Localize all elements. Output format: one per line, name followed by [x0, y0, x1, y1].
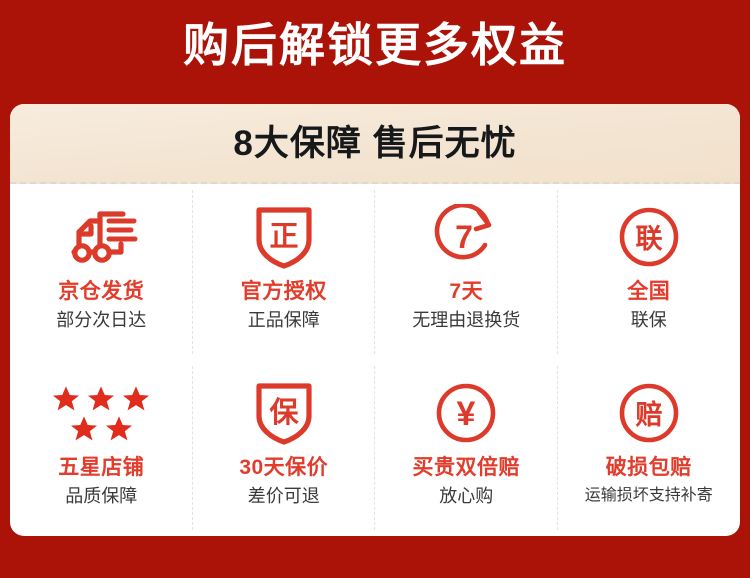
five-star-shop-icon [51, 376, 151, 450]
yuan-double-refund-icon: ¥ [433, 376, 499, 450]
shield-price-protection-icon: 保 [251, 376, 317, 450]
benefit-label: 全国 [627, 278, 670, 306]
benefit-cell-delivery[interactable]: 京仓发货 部分次日达 [10, 184, 193, 360]
benefit-label: 五星店铺 [58, 454, 144, 482]
nationwide-warranty-icon: 联 [616, 200, 682, 274]
delivery-truck-icon [63, 200, 139, 274]
benefit-sublabel: 差价可退 [248, 484, 320, 508]
star-icon [86, 384, 116, 413]
benefit-sublabel: 放心购 [439, 484, 493, 508]
card-header-title: 8大保障 售后无忧 [233, 124, 516, 164]
price-protection-glyph: 保 [268, 396, 299, 429]
shield-glyph: 正 [269, 221, 298, 253]
benefit-cell-return[interactable]: 7 7天 无理由退换货 [375, 184, 558, 360]
benefit-label: 破损包赔 [606, 454, 692, 482]
benefit-label: 30天保价 [239, 454, 328, 482]
benefit-cell-five-star[interactable]: 五星店铺 品质保障 [10, 360, 193, 536]
damage-compensation-icon: 赔 [616, 376, 682, 450]
shield-authentic-icon: 正 [251, 200, 317, 274]
card-header: 8大保障 售后无忧 [10, 104, 740, 184]
star-icon [51, 384, 81, 413]
benefit-sublabel: 联保 [631, 308, 667, 332]
benefit-cell-damage[interactable]: 赔 破损包赔 运输损坏支持补寄 [558, 360, 741, 536]
star-icon [69, 414, 99, 443]
guarantee-card: 8大保障 售后无忧 [10, 104, 740, 536]
benefit-sublabel: 部分次日达 [56, 308, 146, 332]
return-glyph: 7 [455, 219, 473, 255]
benefit-cell-authorization[interactable]: 正 官方授权 正品保障 [193, 184, 376, 360]
benefit-sublabel: 品质保障 [65, 484, 137, 508]
benefit-cell-price-protection[interactable]: 保 30天保价 差价可退 [193, 360, 376, 536]
stars-row-top [51, 384, 151, 413]
benefit-cell-warranty[interactable]: 联 全国 联保 [558, 184, 741, 360]
star-icon [104, 414, 134, 443]
benefit-label: 京仓发货 [58, 278, 144, 306]
benefit-sublabel: 运输损坏支持补寄 [585, 484, 713, 508]
benefit-sublabel: 无理由退换货 [412, 308, 520, 332]
benefit-cell-double-refund[interactable]: ¥ 买贵双倍赔 放心购 [375, 360, 558, 536]
benefit-label: 买贵双倍赔 [413, 454, 521, 482]
page-title: 购后解锁更多权益 [0, 14, 750, 76]
benefit-sublabel: 正品保障 [248, 308, 320, 332]
benefits-grid: 京仓发货 部分次日达 正 官方授权 正品保障 [10, 184, 740, 536]
benefit-label: 官方授权 [241, 278, 327, 306]
damage-glyph: 赔 [635, 400, 662, 430]
seven-day-return-icon: 7 [432, 200, 500, 274]
star-icon [121, 384, 151, 413]
yuan-glyph: ¥ [457, 395, 476, 433]
benefit-label: 7天 [449, 278, 483, 306]
warranty-glyph: 联 [635, 224, 662, 254]
promo-banner: 购后解锁更多权益 8大保障 售后无忧 [0, 0, 750, 578]
stars-row-bottom [69, 414, 134, 443]
